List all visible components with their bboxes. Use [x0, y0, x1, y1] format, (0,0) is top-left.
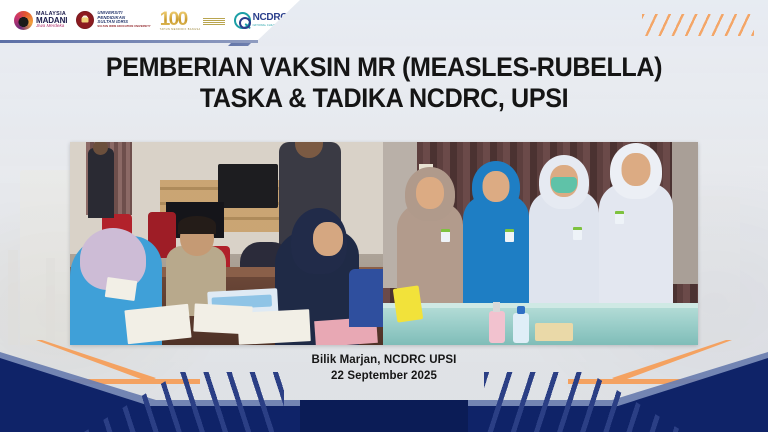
photo-right-staff-4-face	[622, 153, 651, 186]
upsi-crest-icon	[76, 11, 94, 29]
slide-title: PEMBERIAN VAKSIN MR (MEASLES-RUBELLA) TA…	[0, 52, 768, 114]
orange-hatch-decoration-top-right	[642, 14, 754, 36]
ncdrc-mark-icon	[234, 12, 251, 29]
photo-left-person-foreground	[349, 269, 383, 327]
upsi-logo: UNIVERSITI PENDIDIKAN SULTAN IDRIS SULTA…	[76, 11, 150, 29]
photo-right-staff-4-badge	[615, 211, 624, 224]
madani-line3: Jiwa Merdeka	[36, 24, 67, 28]
photo-right-staff-4	[599, 183, 673, 315]
photo-left-form-4	[105, 277, 137, 301]
photo-right-water-bottle	[513, 313, 529, 343]
photo-right-yellow-bag	[393, 285, 423, 322]
title-line-1: PEMBERIAN VAKSIN MR (MEASLES-RUBELLA)	[27, 52, 741, 83]
malaysia-madani-logo: MALAYSIA MADANI Jiwa Merdeka	[14, 11, 67, 30]
bottom-bar-dark-center	[300, 400, 468, 432]
centenary-100-logo: 100 TAHUN MENDIDIK BANGSA	[160, 10, 225, 31]
photo-strip	[70, 142, 698, 345]
photo-right-staff-3-face-mask	[551, 177, 577, 193]
malaysia-madani-mark-icon	[14, 11, 33, 30]
photo-registration-desk	[70, 142, 383, 345]
photo-right-staff-3	[529, 191, 599, 315]
photo-left-monitor	[218, 164, 278, 208]
centenary-bars-icon	[203, 18, 225, 23]
upsi-sub: SULTAN IDRIS EDUCATION UNIVERSITY	[97, 26, 150, 29]
photo-right-staff-1-badge	[441, 229, 450, 242]
photo-left-child-hair	[178, 216, 216, 234]
photo-right-staff-3-badge	[573, 227, 582, 240]
photo-right-staff-1-face	[416, 177, 444, 209]
photo-right-staff-2	[463, 195, 529, 315]
photo-right-wall-right	[672, 142, 698, 284]
background-tower-left	[8, 250, 18, 345]
header-logo-band: MALAYSIA MADANI Jiwa Merdeka UNIVERSITI …	[0, 0, 300, 40]
photo-left-person-background-1	[88, 148, 114, 218]
centenary-sub: TAHUN MENDIDIK BANGSA	[160, 28, 201, 31]
photo-right-supply-tray	[535, 323, 573, 341]
centenary-numeral: 100	[160, 10, 201, 29]
caption-date: 22 September 2025	[0, 368, 768, 384]
caption-venue: Bilik Marjan, NCDRC UPSI	[0, 352, 768, 368]
title-line-2: TASKA & TADIKA NCDRC, UPSI	[27, 83, 741, 114]
photo-left-form-1	[124, 304, 191, 345]
background-tower-left-2	[46, 258, 55, 346]
photo-left-staff-face	[313, 222, 343, 256]
presentation-slide: MALAYSIA MADANI Jiwa Merdeka UNIVERSITI …	[0, 0, 768, 432]
slide-caption: Bilik Marjan, NCDRC UPSI 22 September 20…	[0, 352, 768, 385]
photo-health-staff	[383, 142, 698, 345]
header-band-underline	[0, 40, 258, 43]
photo-right-staff-2-face	[483, 171, 510, 202]
photo-right-staff-2-badge	[505, 229, 514, 242]
photo-right-sanitiser-bottle	[489, 311, 505, 343]
